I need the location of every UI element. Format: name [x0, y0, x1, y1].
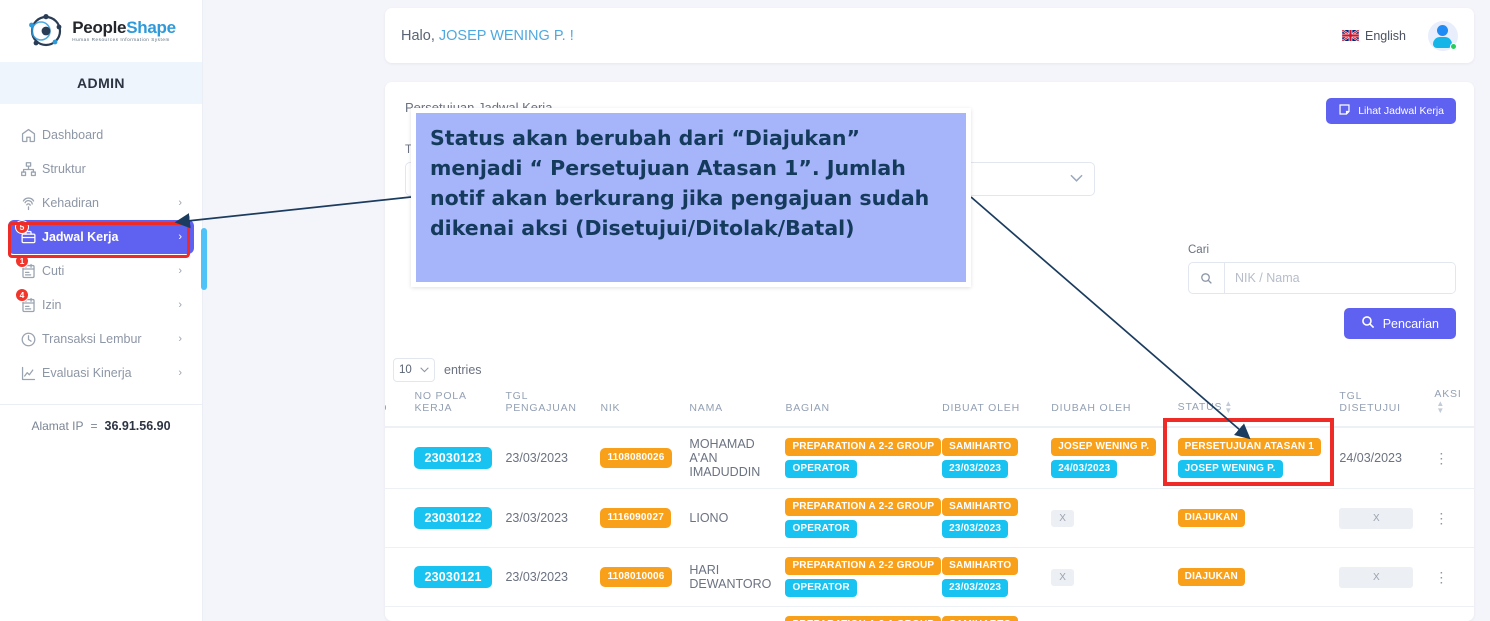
pola-badge: 23030121	[414, 566, 491, 588]
row-menu-button[interactable]: ⋮	[1434, 510, 1449, 526]
table-body: 12303012323/03/20231108080026MOHAMAD A'A…	[385, 427, 1474, 621]
app-root: PeopleShape Human Resources Information …	[0, 0, 1490, 621]
language-label: English	[1365, 29, 1406, 43]
topbar: Halo, JOSEP WENING P. ! English	[385, 8, 1474, 63]
bagian-group: PREPARATION A 2-1 GROUP	[785, 616, 941, 621]
table-row: 22303012223/03/20231116090027LIONOPREPAR…	[385, 489, 1474, 548]
home-icon	[20, 127, 42, 144]
sidebar-item-label: Struktur	[42, 162, 182, 176]
cell-diubah-oleh: X	[1045, 607, 1171, 621]
cell-nik: 1108010006	[594, 548, 683, 607]
cell-aksi: ⋮	[1428, 427, 1474, 489]
status-by: JOSEP WENING P.	[1178, 460, 1283, 478]
chevron-right-icon: ›	[178, 367, 182, 379]
sidebar-item-label: Dashboard	[42, 128, 182, 142]
chevron-right-icon: ›	[178, 265, 182, 277]
status-badge: DIAJUKAN	[1178, 509, 1245, 527]
chevron-right-icon: ›	[178, 197, 182, 209]
annotation-text: Status akan berubah dari “Diajukan” menj…	[430, 123, 952, 243]
sidebar: PeopleShape Human Resources Information …	[0, 0, 203, 621]
sidebar-scrollbar[interactable]	[201, 228, 207, 290]
sidebar-item-label: Cuti	[42, 264, 178, 278]
chevron-down-icon	[420, 364, 429, 376]
search-submit-icon	[1361, 315, 1375, 332]
table-row: 12303012323/03/20231108080026MOHAMAD A'A…	[385, 427, 1474, 489]
cell-nama: BAMBANG	[683, 607, 779, 621]
role-label: ADMIN	[0, 62, 202, 104]
cell-aksi: ⋮	[1428, 548, 1474, 607]
ip-address-row: Alamat IP = 36.91.56.90	[0, 405, 202, 447]
clock-icon	[20, 331, 42, 348]
cell-diubah-oleh: JOSEP WENING P.24/03/2023	[1045, 427, 1171, 489]
row-menu-button[interactable]: ⋮	[1434, 450, 1449, 466]
tgl-disetujui-empty: X	[1339, 508, 1413, 529]
table-row: 42303012123/03/20231114010041BAMBANGPREP…	[385, 607, 1474, 621]
cell-status: DIAJUKAN	[1172, 489, 1334, 548]
nik-badge: 1108080026	[600, 448, 671, 468]
table-col-tgld: TGL DISETUJUI	[1333, 384, 1428, 427]
cell-diubah-oleh: X	[1045, 489, 1171, 548]
sidebar-item-label: Transaksi Lembur	[42, 332, 178, 346]
cell-pola: 23030123	[408, 427, 499, 489]
sidebar-badge-4: 1	[15, 254, 29, 268]
cell-status: PERSETUJUAN ATASAN 1JOSEP WENING P.	[1172, 427, 1334, 489]
dibuat-date: 23/03/2023	[942, 460, 1008, 478]
bagian-role: OPERATOR	[785, 579, 856, 597]
status-badge: DIAJUKAN	[1178, 568, 1245, 586]
row-menu-button[interactable]: ⋮	[1434, 569, 1449, 585]
nik-badge: 1116090027	[600, 508, 671, 528]
sidebar-item-cuti[interactable]: 1Cuti›	[8, 254, 194, 288]
cell-bagian: PREPARATION A 2-2 GROUPOPERATOR	[779, 427, 936, 489]
cell-aksi: ⋮	[1428, 607, 1474, 621]
table-col-dibuat: DIBUAT OLEH	[936, 384, 1045, 427]
cell-no: 4	[385, 607, 408, 621]
cell-nama: MOHAMAD A'AN IMADUDDIN	[683, 427, 779, 489]
logo[interactable]: PeopleShape Human Resources Information …	[0, 0, 202, 62]
sidebar-item-kehadiran[interactable]: Kehadiran›	[8, 186, 194, 220]
sort-icon[interactable]: ▲▼	[1436, 400, 1445, 414]
bagian-group: PREPARATION A 2-2 GROUP	[785, 557, 941, 575]
sidebar-item-dashboard[interactable]: Dashboard	[8, 118, 194, 152]
table-col-tglp: TGL PENGAJUAN	[499, 384, 594, 427]
pencarian-label: Pencarian	[1383, 317, 1439, 331]
chart-icon	[20, 365, 42, 382]
dibuat-date: 23/03/2023	[942, 520, 1008, 538]
cell-bagian: PREPARATION A 2-2 GROUPOPERATOR	[779, 489, 936, 548]
language-switcher[interactable]: English	[1342, 29, 1406, 43]
cell-no: 3	[385, 548, 408, 607]
search-input-wrapper	[1188, 262, 1456, 294]
cell-tgl-pengajuan: 23/03/2023	[499, 489, 594, 548]
ip-value: 36.91.56.90	[105, 419, 171, 433]
table-col-status[interactable]: STATUS▲▼	[1172, 384, 1334, 427]
cell-aksi: ⋮	[1428, 489, 1474, 548]
sidebar-item-label: Evaluasi Kinerja	[42, 366, 178, 380]
table-col-nama: NAMA	[683, 384, 779, 427]
logo-name-2: Shape	[126, 18, 176, 37]
cell-pola: 23030121	[408, 548, 499, 607]
entries-select[interactable]: 10	[393, 358, 435, 382]
bagian-group: PREPARATION A 2-2 GROUP	[785, 498, 941, 516]
diubah-empty: X	[1051, 510, 1074, 527]
cell-diubah-oleh: X	[1045, 548, 1171, 607]
tgl-disetujui-empty: X	[1339, 567, 1413, 588]
ip-label: Alamat IP	[31, 419, 83, 433]
logo-title: PeopleShape	[72, 19, 175, 36]
fingerprint-icon	[20, 195, 42, 212]
pencarian-button[interactable]: Pencarian	[1344, 308, 1456, 339]
table-col-nik: NIK	[594, 384, 683, 427]
table-col-aksi[interactable]: AKSI▲▼	[1428, 384, 1474, 427]
cell-tgl-disetujui: X	[1333, 548, 1428, 607]
search-icon	[1189, 263, 1225, 293]
cell-tgl-disetujui: 24/03/2023	[1333, 427, 1428, 489]
cell-nik: 1116090027	[594, 489, 683, 548]
annotation-callout: Status akan berubah dari “Diajukan” menj…	[411, 108, 971, 287]
diubah-date: 24/03/2023	[1051, 460, 1117, 478]
logo-name-1: People	[72, 18, 126, 37]
org-chart-icon	[20, 161, 42, 178]
search-input[interactable]	[1225, 263, 1455, 293]
sidebar-item-transaksi-lembur[interactable]: Transaksi Lembur›	[8, 322, 194, 356]
uk-flag-icon	[1342, 30, 1359, 41]
approval-table: NONO POLA KERJATGL PENGAJUANNIKNAMABAGIA…	[385, 384, 1474, 621]
sidebar-item-label: Izin	[42, 298, 178, 312]
cell-bagian: PREPARATION A 2-2 GROUPOPERATOR	[779, 548, 936, 607]
cell-no: 1	[385, 427, 408, 489]
cell-status: DIAJUKAN	[1172, 607, 1334, 621]
sidebar-item-evaluasi-kinerja[interactable]: Evaluasi Kinerja›	[8, 356, 194, 390]
arrow-to-sidebar	[178, 197, 411, 222]
table-col-pola: NO POLA KERJA	[408, 384, 499, 427]
entries-value: 10	[399, 364, 412, 376]
search-group: Cari Pencarian	[1188, 244, 1456, 294]
cell-tgl-pengajuan: 23/03/2023	[499, 548, 594, 607]
cell-nik: 1108080026	[594, 427, 683, 489]
sort-icon[interactable]: ▲▼	[1224, 400, 1233, 414]
cell-tgl-pengajuan: 23/03/2023	[499, 607, 594, 621]
pola-badge: 23030123	[414, 447, 491, 469]
cell-pola: 23030121	[408, 607, 499, 621]
ip-equals: =	[90, 419, 97, 433]
search-label: Cari	[1188, 244, 1456, 256]
pola-badge: 23030122	[414, 507, 491, 529]
online-status-dot	[1450, 43, 1457, 50]
bagian-group: PREPARATION A 2-2 GROUP	[785, 438, 941, 456]
sidebar-item-struktur[interactable]: Struktur	[8, 152, 194, 186]
logo-tagline: Human Resources Information System	[72, 38, 175, 43]
chevron-right-icon: ›	[178, 299, 182, 311]
chevron-down-icon	[1070, 172, 1083, 186]
sidebar-badge-5: 4	[15, 288, 29, 302]
dibuat-by: SAMIHARTO	[942, 616, 1018, 621]
sidebar-badge-3: 5	[15, 220, 29, 234]
table-col-no: NO	[385, 384, 408, 427]
table-scroll-container[interactable]: NONO POLA KERJATGL PENGAJUANNIKNAMABAGIA…	[385, 384, 1474, 621]
sidebar-nav: DashboardStrukturKehadiran›5Jadwal Kerja…	[0, 104, 202, 390]
cell-dibuat-oleh: SAMIHARTO23/03/2023	[936, 607, 1045, 621]
table-col-bagian: BAGIAN	[779, 384, 936, 427]
cell-tgl-pengajuan: 23/03/2023	[499, 427, 594, 489]
entries-label: entries	[444, 363, 482, 377]
cell-dibuat-oleh: SAMIHARTO23/03/2023	[936, 489, 1045, 548]
sidebar-item-izin[interactable]: 4Izin›	[8, 288, 194, 322]
table-row: 32303012123/03/20231108010006HARI DEWANT…	[385, 548, 1474, 607]
cell-tgl-disetujui: X	[1333, 607, 1428, 621]
cell-nik: 1114010041	[594, 607, 683, 621]
avatar-head	[1437, 25, 1448, 36]
cell-no: 2	[385, 489, 408, 548]
cell-dibuat-oleh: SAMIHARTO23/03/2023	[936, 548, 1045, 607]
entries-selector-row: 10 entries	[393, 358, 482, 382]
diubah-by: JOSEP WENING P.	[1051, 438, 1156, 456]
tgl-disetujui-value: 24/03/2023	[1339, 451, 1402, 465]
sidebar-item-label: Kehadiran	[42, 196, 178, 210]
cell-tgl-disetujui: X	[1333, 489, 1428, 548]
lihat-jadwal-kerja-button[interactable]: Lihat Jadwal Kerja	[1326, 98, 1456, 124]
cell-dibuat-oleh: SAMIHARTO23/03/2023	[936, 427, 1045, 489]
sidebar-item-label: Jadwal Kerja	[42, 230, 178, 244]
lihat-jadwal-kerja-label: Lihat Jadwal Kerja	[1358, 105, 1444, 117]
cell-status: DIAJUKAN	[1172, 548, 1334, 607]
peopleshape-logo-icon	[26, 11, 66, 51]
greeting-username: JOSEP WENING P. !	[439, 28, 574, 44]
bagian-role: OPERATOR	[785, 460, 856, 478]
note-icon	[1338, 103, 1351, 119]
status-badge: PERSETUJUAN ATASAN 1	[1178, 438, 1321, 456]
cell-nama: HARI DEWANTORO	[683, 548, 779, 607]
dibuat-date: 23/03/2023	[942, 579, 1008, 597]
dibuat-by: SAMIHARTO	[942, 498, 1018, 516]
table-head: NONO POLA KERJATGL PENGAJUANNIKNAMABAGIA…	[385, 384, 1474, 427]
user-avatar-icon[interactable]	[1428, 21, 1458, 51]
sidebar-item-jadwal-kerja[interactable]: 5Jadwal Kerja›	[8, 220, 194, 254]
table-header-row: NONO POLA KERJATGL PENGAJUANNIKNAMABAGIA…	[385, 384, 1474, 427]
cell-pola: 23030122	[408, 489, 499, 548]
cell-bagian: PREPARATION A 2-1 GROUPOPERATOR	[779, 607, 936, 621]
bagian-role: OPERATOR	[785, 520, 856, 538]
cell-nama: LIONO	[683, 489, 779, 548]
dibuat-by: SAMIHARTO	[942, 438, 1018, 456]
nik-badge: 1108010006	[600, 567, 671, 587]
greeting-prefix: Halo,	[401, 28, 435, 44]
chevron-right-icon: ›	[178, 333, 182, 345]
table-col-diubah: DIUBAH OLEH	[1045, 384, 1171, 427]
chevron-right-icon: ›	[178, 231, 182, 243]
dibuat-by: SAMIHARTO	[942, 557, 1018, 575]
greeting: Halo, JOSEP WENING P. !	[401, 28, 574, 44]
diubah-empty: X	[1051, 569, 1074, 586]
